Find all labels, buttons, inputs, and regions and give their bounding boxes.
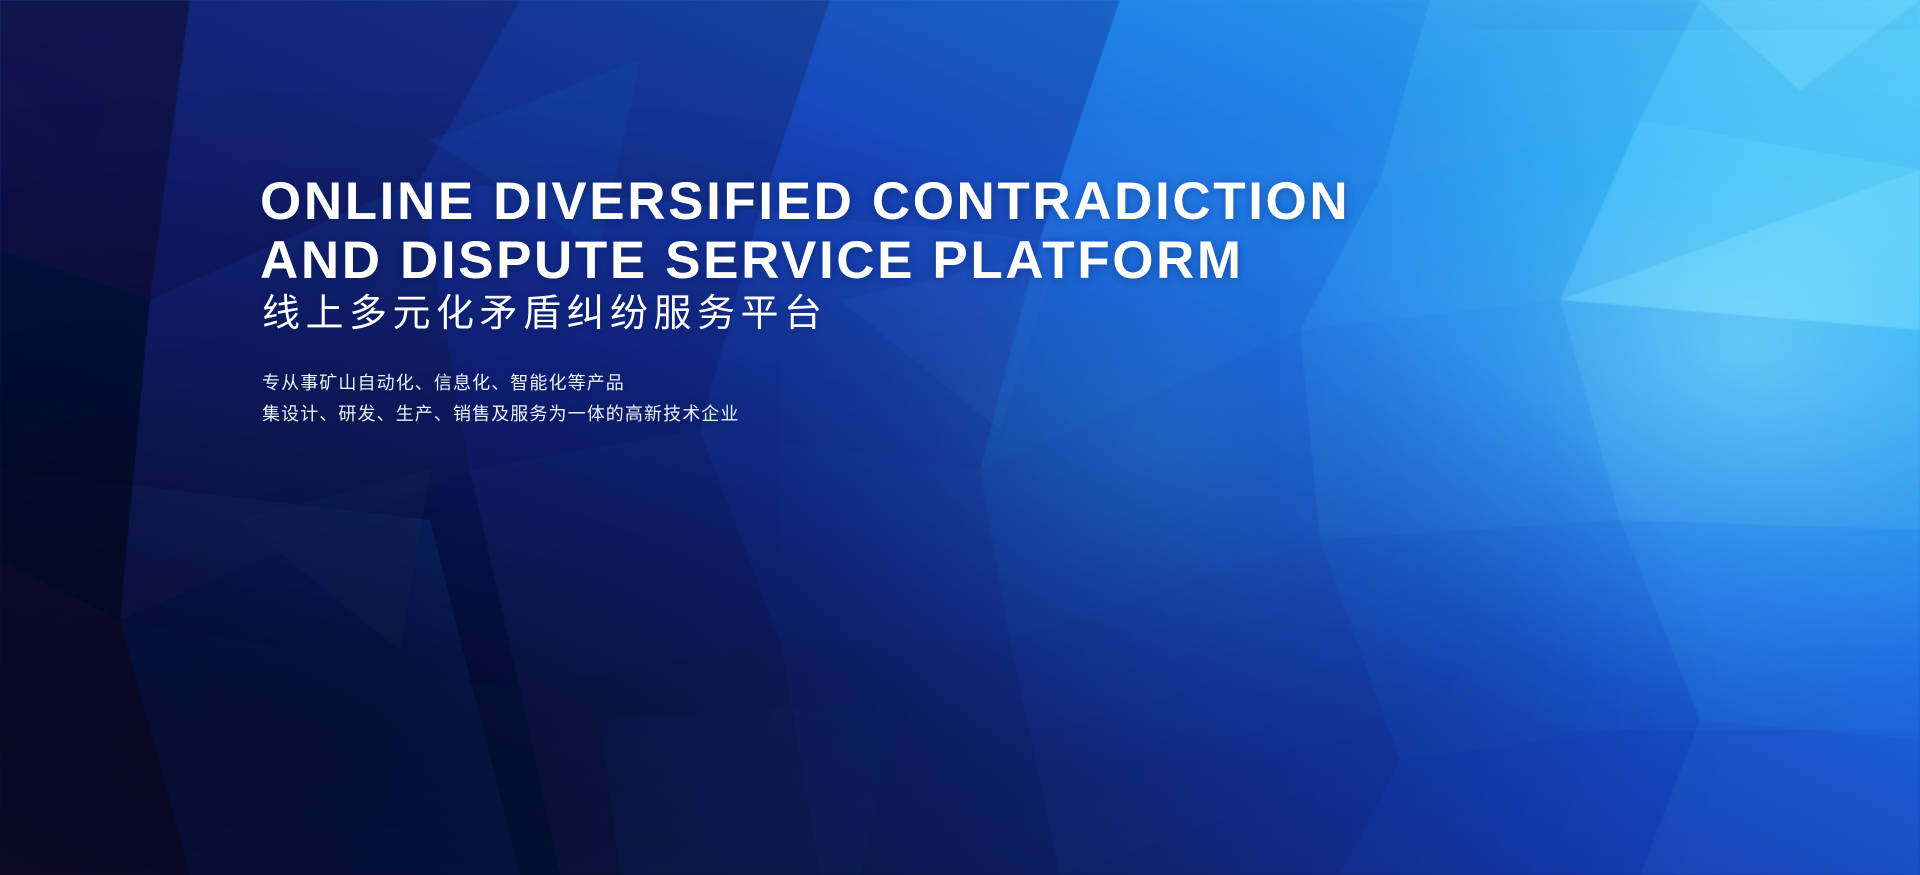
- headline-line-2: AND DISPUTE SERVICE PLATFORM: [260, 231, 1350, 290]
- banner-content: ONLINE DIVERSIFIED CONTRADICTION AND DIS…: [260, 0, 1460, 875]
- subtitle: 线上多元化矛盾纠纷服务平台: [262, 290, 828, 338]
- description-line-2: 集设计、研发、生产、销售及服务为一体的高新技术企业: [262, 399, 740, 430]
- description: 专从事矿山自动化、信息化、智能化等产品 集设计、研发、生产、销售及服务为一体的高…: [262, 368, 740, 430]
- headline: ONLINE DIVERSIFIED CONTRADICTION AND DIS…: [260, 172, 1350, 290]
- headline-line-1: ONLINE DIVERSIFIED CONTRADICTION: [260, 172, 1350, 231]
- description-line-1: 专从事矿山自动化、信息化、智能化等产品: [262, 368, 740, 399]
- hero-banner: ONLINE DIVERSIFIED CONTRADICTION AND DIS…: [0, 0, 1920, 875]
